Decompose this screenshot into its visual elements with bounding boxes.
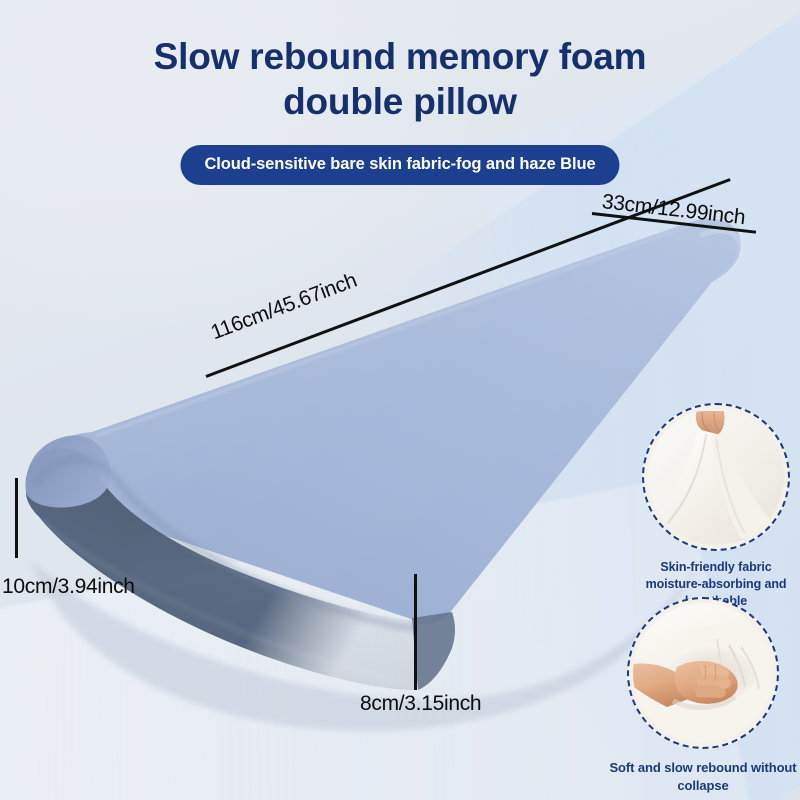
feature-2-caption-line-1: Soft and slow rebound without collapse: [588, 759, 800, 794]
title-line-2: double pillow: [70, 79, 730, 124]
feature-slow-rebound: Soft and slow rebound without collapse: [608, 597, 798, 794]
hand-press-pillow-icon: [633, 603, 773, 743]
feature-1-caption-line-1: Skin-friendly fabric: [621, 559, 800, 576]
fabric-pinch-icon: [648, 409, 784, 545]
feature-2-caption: Soft and slow rebound without collapse: [588, 759, 800, 794]
short-height-label: 8cm/3.15inch: [360, 692, 481, 716]
feature-skin-friendly-fabric: Skin-friendly fabric moisture-absorbing …: [621, 403, 800, 610]
infographic-canvas: Slow rebound memory foam double pillow C…: [0, 0, 800, 800]
tall-height-label: 10cm/3.94inch: [2, 575, 135, 599]
tall-height-rule: [15, 478, 18, 558]
short-height-rule: [414, 574, 417, 690]
fabric-badge: Cloud-sensitive bare skin fabric-fog and…: [180, 145, 619, 185]
feature-1-circle: [642, 403, 790, 551]
page-title: Slow rebound memory foam double pillow: [0, 34, 800, 124]
feature-2-circle: [627, 597, 779, 749]
title-line-1: Slow rebound memory foam: [70, 34, 730, 79]
